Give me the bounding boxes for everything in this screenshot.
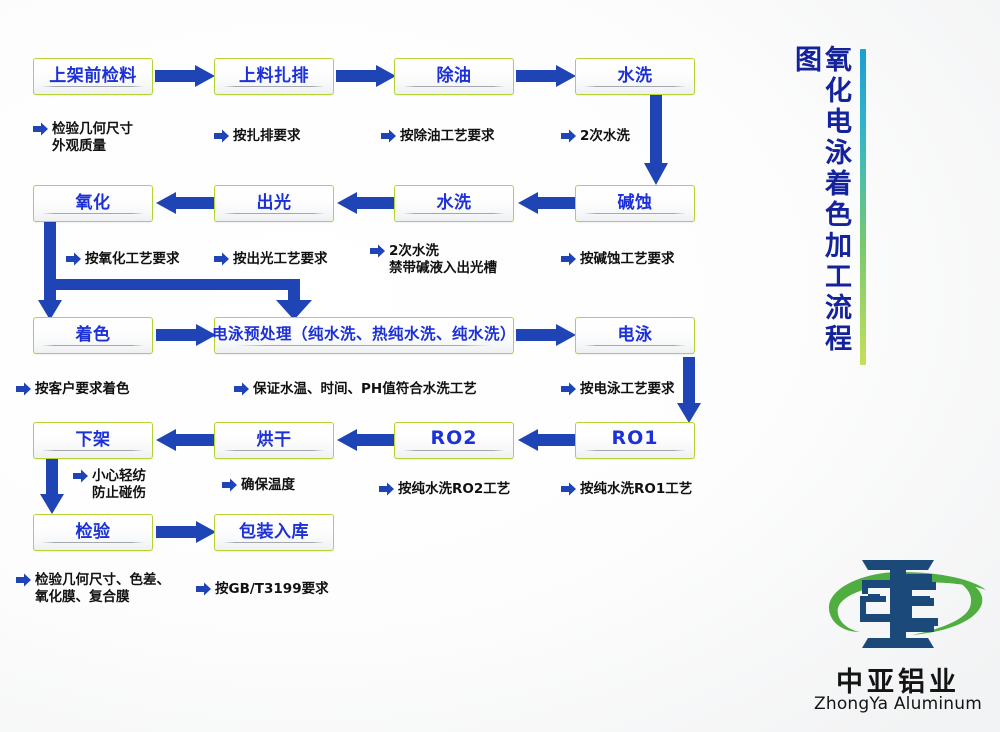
connector-n12-to-n13 [518,429,578,451]
node-ro1[interactable]: RO1 [575,422,695,459]
note-jianyan: 检验几何尺寸、色差、 氧化膜、复合膜 [16,572,170,606]
arrow-bullet-icon [196,582,211,599]
connector-n2-to-n3 [336,65,398,87]
node-chuguang[interactable]: 出光 [214,185,334,222]
connector-n3-to-n4 [516,65,578,87]
node-dianyong[interactable]: 电泳 [575,317,695,354]
note-yanghua: 按氧化工艺要求 [66,251,180,268]
chart-title-block: 氧化电泳着色加工流程图 [790,45,866,365]
node-ro2[interactable]: RO2 [394,422,514,459]
node-shangliaozhapai[interactable]: 上料扎排 [214,58,334,95]
arrow-bullet-icon [561,252,576,269]
node-baozhuangruku[interactable]: 包装入库 [214,514,334,551]
connector-n16-to-n17 [156,521,218,543]
title-accent-bar [860,49,866,365]
node-shangjiaqianjianliao[interactable]: 上架前检料 [33,58,153,95]
arrow-bullet-icon [370,244,385,261]
note-honggan: 确保温度 [222,477,295,494]
arrow-bullet-icon [214,129,229,146]
node-shuixi-2[interactable]: 水洗 [394,185,514,222]
connector-n7-to-n8 [156,192,216,214]
node-zhuose[interactable]: 着色 [33,317,153,354]
page-title: 氧化电泳着色加工流程图 [790,45,850,363]
connector-n11-to-n12 [677,357,701,425]
logo-english-name: ZhongYa Aluminum [800,694,996,714]
node-chuyou[interactable]: 除油 [394,58,514,95]
note-jianshi: 按碱蚀工艺要求 [561,251,675,268]
arrow-bullet-icon [381,129,396,146]
connector-n1-to-n2 [155,65,217,87]
node-xiajia[interactable]: 下架 [33,422,153,459]
arrow-bullet-icon [16,573,31,590]
connector-n6-to-n7 [337,192,397,214]
note-jianliao: 检验几何尺寸 外观质量 [33,121,133,155]
note-xiajia: 小心轻纺 防止碰伤 [73,468,146,502]
arrow-bullet-icon [561,129,576,146]
node-jianyan[interactable]: 检验 [33,514,153,551]
note-dianyong-yuchuli: 保证水温、时间、PH值符合水洗工艺 [234,381,477,398]
arrow-bullet-icon [561,382,576,399]
node-honggan[interactable]: 烘干 [214,422,334,459]
arrow-bullet-icon [222,478,237,495]
note-chuguang: 按出光工艺要求 [214,251,328,268]
note-chuyou: 按除油工艺要求 [381,128,495,145]
flowchart-page: 上架前检料 上料扎排 除油 水洗 碱蚀 水洗 出光 氧化 着色 电泳预处理（纯水… [0,0,1000,732]
logo-mark-icon [800,552,996,658]
arrow-bullet-icon [16,382,31,399]
node-shuixi-1[interactable]: 水洗 [575,58,695,95]
arrow-bullet-icon [73,469,88,486]
arrow-bullet-icon [66,252,81,269]
note-shuixi-1: 2次水洗 [561,128,630,145]
note-zhuose: 按客户要求着色 [16,381,130,398]
arrow-bullet-icon [234,382,249,399]
connector-n9-to-n10 [156,324,218,346]
node-yanghua[interactable]: 氧化 [33,185,153,222]
connector-n15-to-n16 [40,458,64,516]
arrow-bullet-icon [561,482,576,499]
connector-n10-to-n11 [516,324,578,346]
note-shuixi-2: 2次水洗 禁带碱液入出光槽 [370,243,497,277]
company-logo: 中亚铝业 ZhongYa Aluminum [800,552,996,724]
note-zhapai: 按扎排要求 [214,128,301,145]
note-ro1: 按纯水洗RO1工艺 [561,481,692,498]
connector-n5-to-n6 [518,192,578,214]
connector-n8-branch [38,222,328,322]
note-ro2: 按纯水洗RO2工艺 [379,481,510,498]
connector-n13-to-n14 [337,429,397,451]
connector-n14-to-n15 [156,429,216,451]
connector-n4-to-n5 [644,95,668,187]
arrow-bullet-icon [33,122,48,139]
arrow-bullet-icon [214,252,229,269]
note-baozhuangruku: 按GB/T3199要求 [196,581,329,598]
node-jianshi[interactable]: 碱蚀 [575,185,695,222]
arrow-bullet-icon [379,482,394,499]
node-dianyong-yuchuli[interactable]: 电泳预处理（纯水洗、热纯水洗、纯水洗） [214,317,514,354]
note-dianyong: 按电泳工艺要求 [561,381,675,398]
